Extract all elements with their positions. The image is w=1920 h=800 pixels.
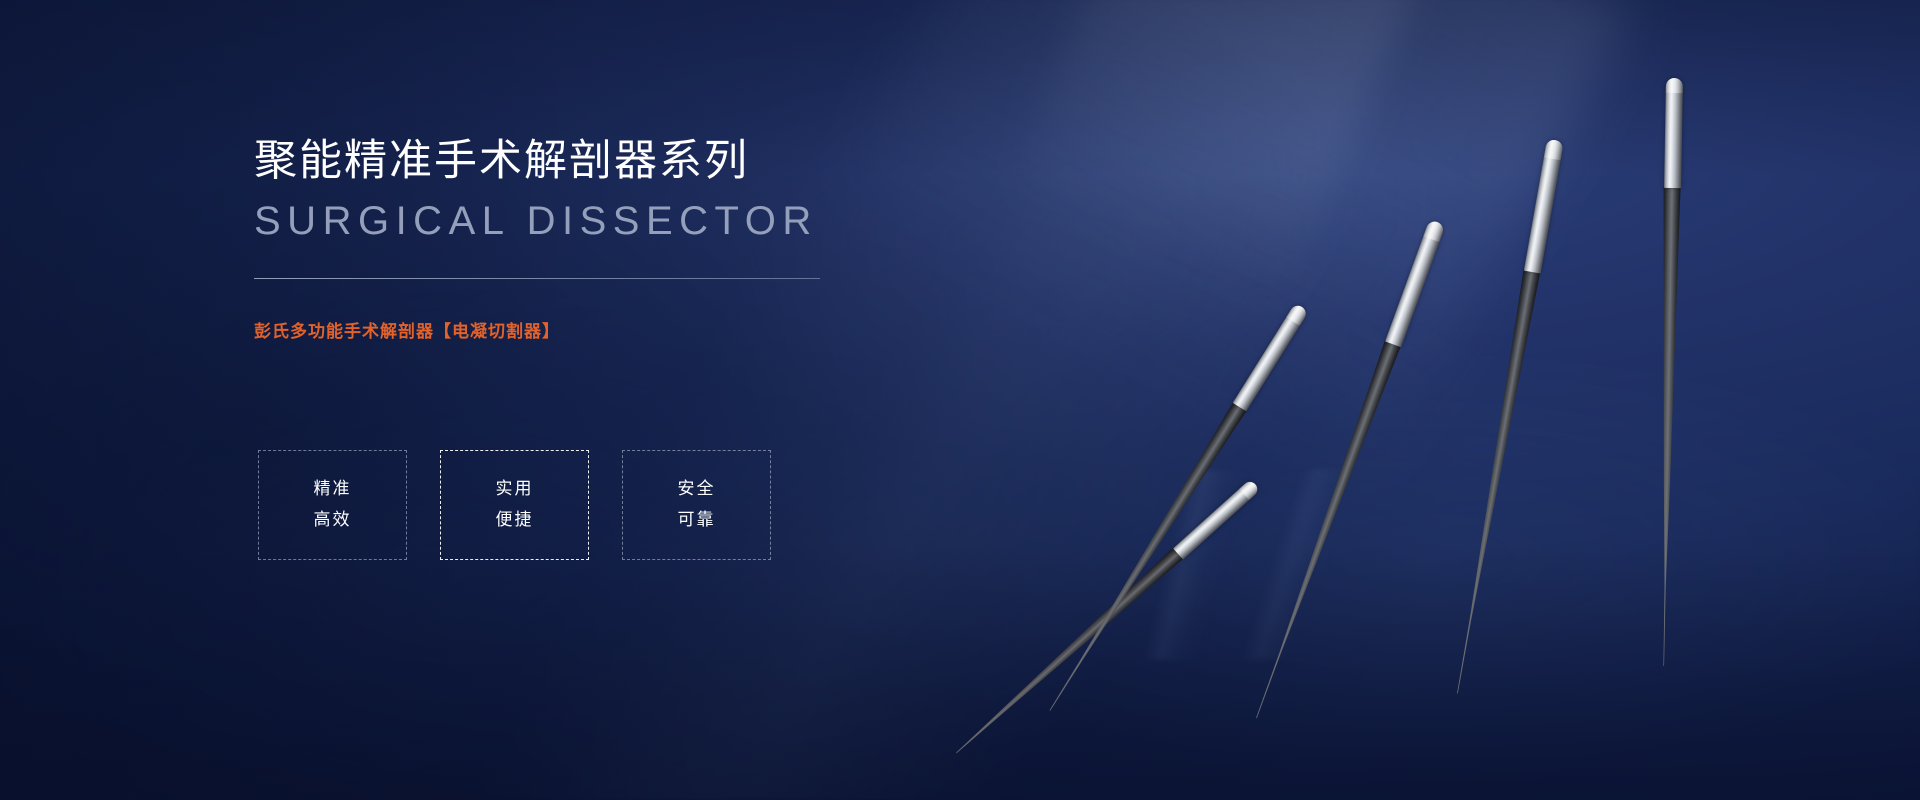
- background-vignette: [0, 0, 1920, 800]
- feature-box-practical[interactable]: 实用 便捷: [440, 450, 589, 560]
- feature-box-precision[interactable]: 精准 高效: [258, 450, 407, 560]
- headline-block: 聚能精准手术解剖器系列 SURGICAL DISSECTOR 彭氏多功能手术解剖…: [254, 136, 874, 342]
- feature-box-group: 精准 高效 实用 便捷 安全 可靠: [258, 450, 771, 560]
- feature-box-precision-line1: 精准: [314, 478, 352, 501]
- feature-box-practical-line2: 便捷: [496, 509, 534, 532]
- feature-box-safety[interactable]: 安全 可靠: [622, 450, 771, 560]
- product-name-label: 彭氏多功能手术解剖器【电凝切割器】: [254, 317, 874, 342]
- page-title: 聚能精准手术解剖器系列: [254, 136, 874, 188]
- divider: [254, 278, 820, 279]
- page-subtitle-english: SURGICAL DISSECTOR: [254, 198, 874, 244]
- feature-box-safety-line1: 安全: [678, 478, 716, 501]
- feature-box-practical-line1: 实用: [496, 478, 534, 501]
- feature-box-safety-line2: 可靠: [678, 509, 716, 532]
- hero-banner: 聚能精准手术解剖器系列 SURGICAL DISSECTOR 彭氏多功能手术解剖…: [0, 0, 1920, 800]
- feature-box-precision-line2: 高效: [314, 509, 352, 532]
